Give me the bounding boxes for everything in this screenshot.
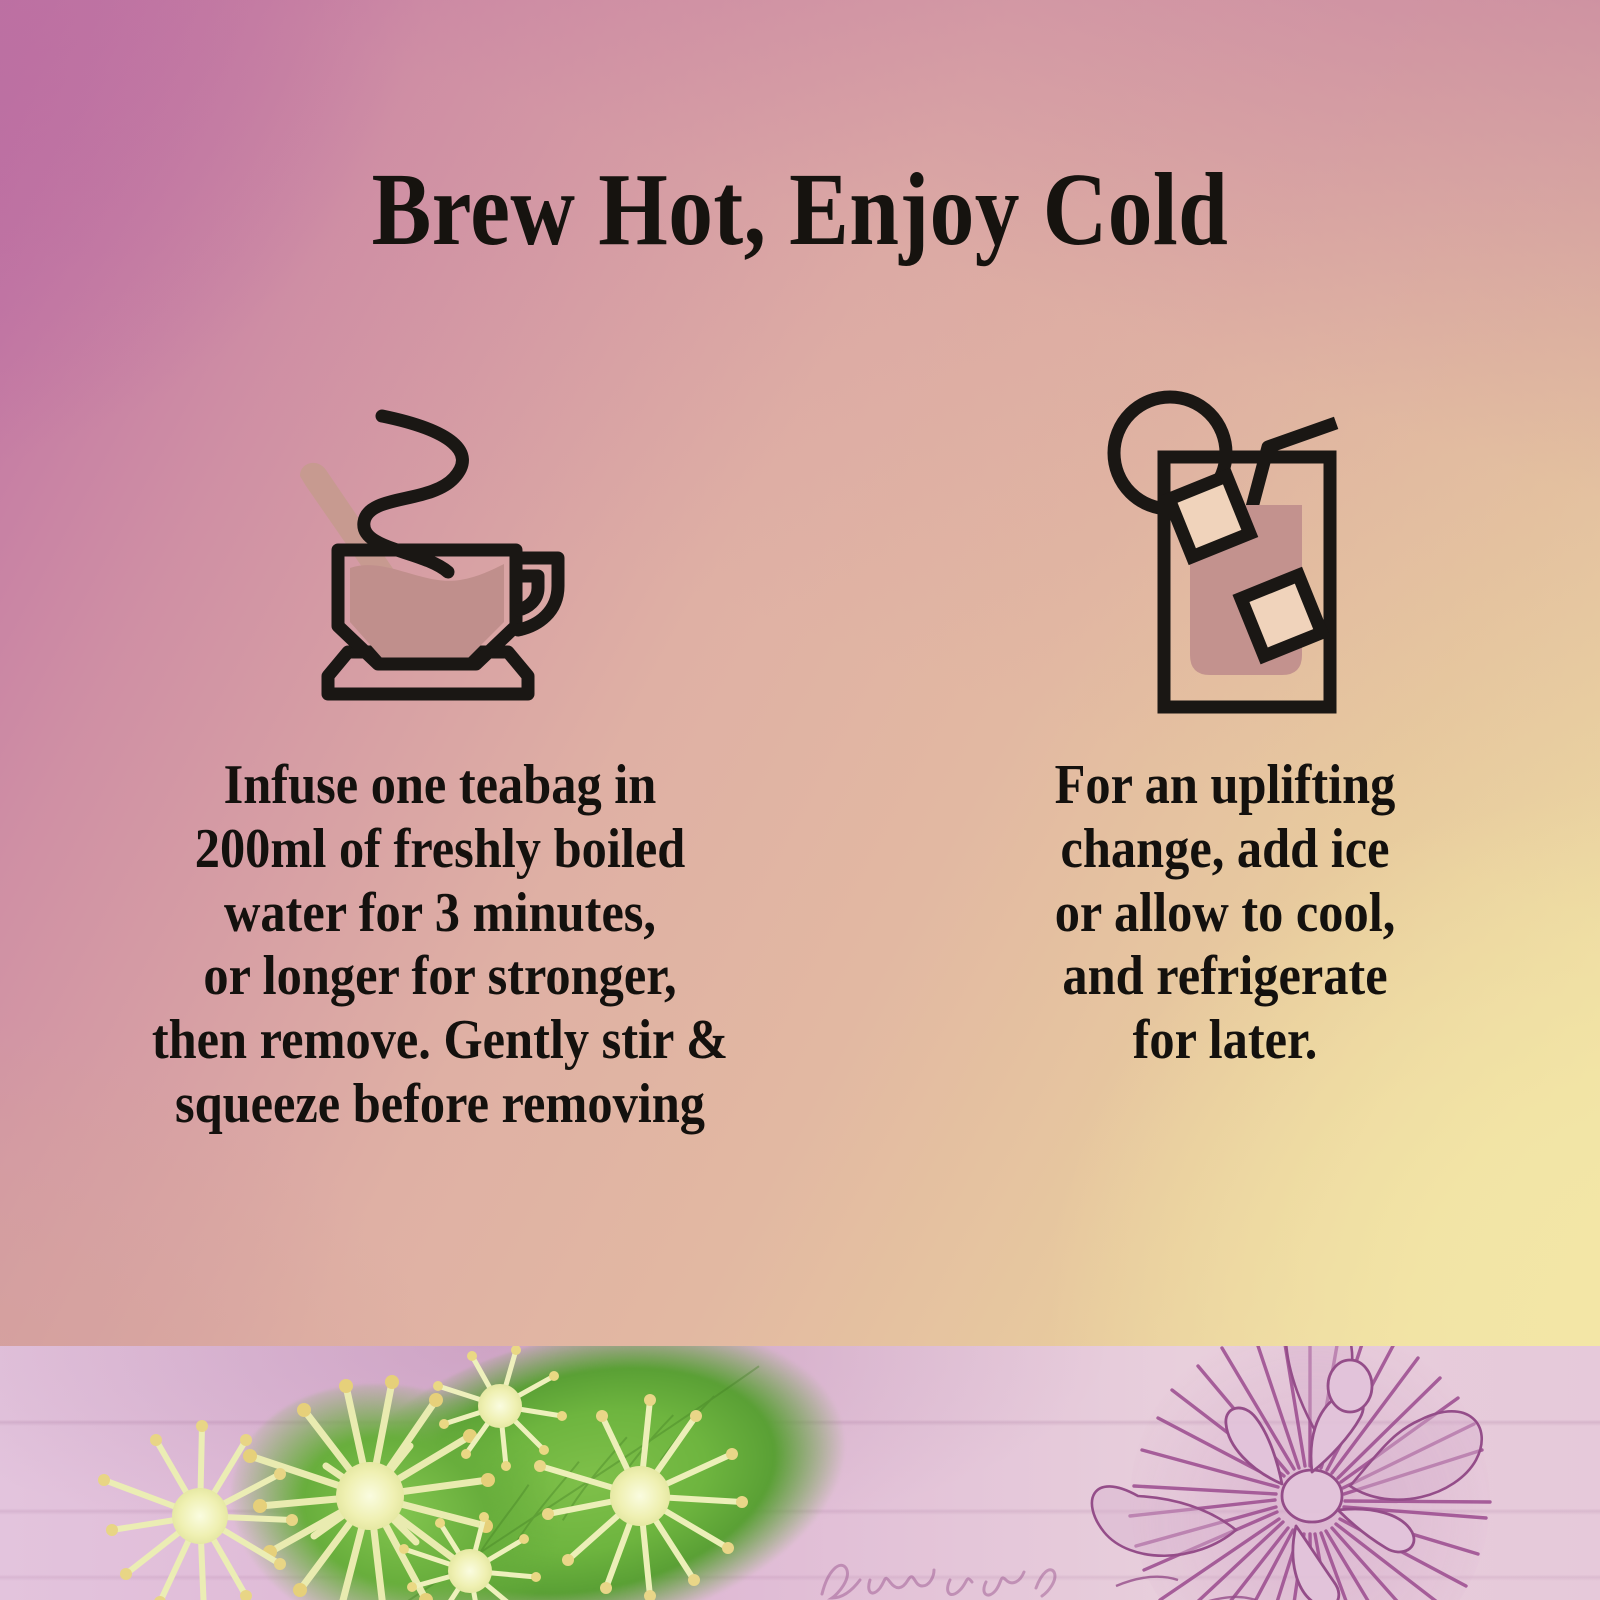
ice-cube-icon: [1169, 476, 1250, 557]
caption-line: 200ml of freshly boiled: [44, 818, 836, 882]
instruction-columns: Infuse one teabag in 200ml of freshly bo…: [0, 380, 1600, 1180]
handwritten-script-text: [810, 1540, 1130, 1600]
caption-line: then remove. Gently stir &: [44, 1009, 836, 1073]
teacup-icon-wrap: [267, 380, 597, 720]
column-enjoy-cold: For an uplifting change, add ice or allo…: [880, 380, 1600, 1073]
caption-line: water for 3 minutes,: [44, 882, 836, 946]
caption-enjoy-cold: For an uplifting change, add ice or allo…: [937, 754, 1513, 1073]
caption-brew-hot: Infuse one teabag in 200ml of freshly bo…: [44, 754, 836, 1137]
caption-line: and refrigerate: [937, 945, 1513, 1009]
caption-line: for later.: [937, 1009, 1513, 1073]
teacup-icon: [282, 390, 582, 710]
caption-line: squeeze before removing: [44, 1073, 836, 1137]
caption-line: or allow to cool,: [937, 882, 1513, 946]
straw-icon: [1250, 425, 1330, 515]
page-title: Brew Hot, Enjoy Cold: [112, 158, 1488, 262]
column-brew-hot: Infuse one teabag in 200ml of freshly bo…: [0, 380, 880, 1137]
linden-blossom-cluster: [0, 1346, 900, 1600]
iced-drink-glass-icon: [1082, 385, 1372, 715]
caption-line: For an uplifting: [937, 754, 1513, 818]
linden-flower: [98, 1346, 748, 1600]
cup-liquid: [350, 564, 504, 658]
ice-cube-icon: [1241, 575, 1322, 656]
bottom-photo-band: [0, 1346, 1600, 1600]
infographic-canvas: Brew Hot, Enjoy Cold: [0, 0, 1600, 1600]
caption-line: Infuse one teabag in: [44, 754, 836, 818]
iced-drink-icon-wrap: [1077, 380, 1377, 720]
caption-line: change, add ice: [937, 818, 1513, 882]
caption-line: or longer for stronger,: [44, 945, 836, 1009]
